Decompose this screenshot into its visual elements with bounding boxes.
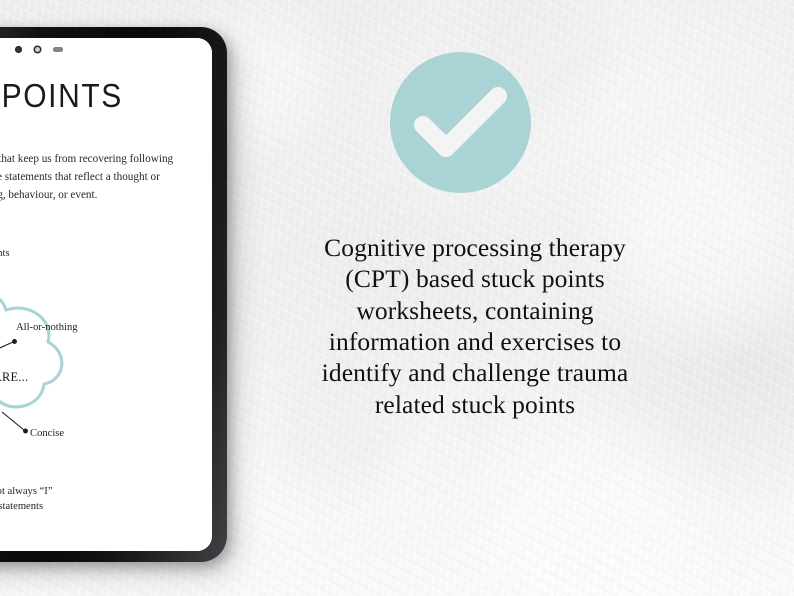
intro-line-3: belief, rather than a feeling, behaviour…: [0, 186, 212, 204]
check-circle-badge: [390, 52, 531, 193]
cloud-label: STUCK POINTS ARE...: [0, 370, 28, 385]
cloud-shape: [0, 291, 62, 412]
worksheet-intro-text: Stuck points are thoughts that keep us f…: [0, 150, 212, 204]
camera-dot-icon: [15, 46, 22, 53]
label-not-always-i: Not always “I” statements: [0, 484, 53, 515]
camera-sensor-icon: [53, 47, 63, 52]
worksheet-title: STUCK POINTS: [0, 78, 212, 116]
stuck-points-diagram: STUCK POINTS ARE... Behavioural “If-then…: [0, 234, 212, 551]
camera-module: [15, 46, 63, 53]
check-mark-path: [423, 96, 498, 148]
label-not-always-i-line1: Not always “I”: [0, 484, 53, 499]
label-if-then: “If-then” statements: [0, 246, 10, 261]
label-not-always-i-line2: statements: [0, 499, 53, 514]
tablet-screen[interactable]: STUCK POINTS Stuck points are thoughts t…: [0, 38, 212, 551]
promo-description: Cognitive processing therapy (CPT) based…: [272, 232, 678, 420]
promo-line-1: Cognitive processing therapy: [272, 232, 678, 263]
promo-line-6: related stuck points: [272, 389, 678, 420]
worksheet-page: STUCK POINTS Stuck points are thoughts t…: [0, 38, 212, 551]
promo-line-3: worksheets, containing: [272, 295, 678, 326]
promo-line-4: information and exercises to: [272, 326, 678, 357]
label-concise: Concise: [30, 426, 64, 441]
intro-line-2: a trauma. They are concise statements th…: [0, 168, 212, 186]
label-all-or-nothing: All-or-nothing: [16, 320, 78, 335]
camera-lens-icon: [35, 47, 40, 52]
check-icon: [390, 52, 531, 193]
intro-line-1: Stuck points are thoughts that keep us f…: [0, 150, 212, 168]
connector-concise: [2, 412, 27, 433]
promo-line-5: identify and challenge trauma: [272, 357, 678, 388]
tablet-device: STUCK POINTS Stuck points are thoughts t…: [0, 27, 227, 562]
promo-line-2: (CPT) based stuck points: [272, 263, 678, 294]
